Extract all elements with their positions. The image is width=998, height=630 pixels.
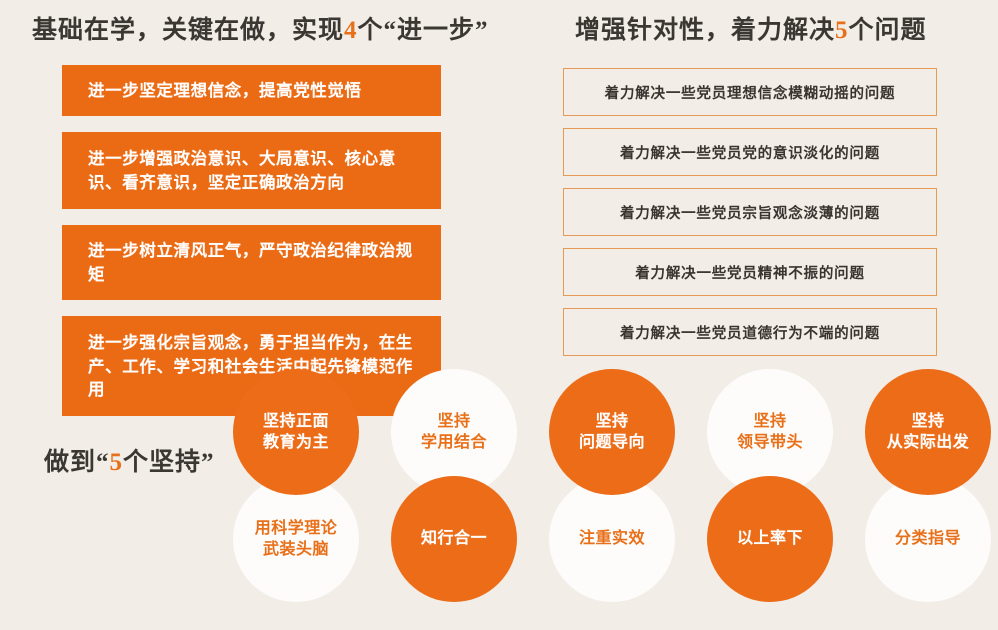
- circle-top: 坚持正面教育为主: [233, 369, 359, 495]
- bottom-label-suffix: 个坚持”: [123, 449, 215, 476]
- circle-label: 注重实效: [579, 528, 645, 549]
- outlined-box-item: 着力解决一些党员理想信念模糊动摇的问题: [563, 68, 937, 116]
- circle-column: 坚持从实际出发分类指导: [865, 369, 991, 602]
- outlined-box-label: 着力解决一些党员精神不振的问题: [635, 262, 865, 283]
- left-bar-list: 进一步坚定理想信念，提高党性觉悟 进一步增强政治意识、大局意识、核心意识、看齐意…: [62, 65, 441, 416]
- circle-label: 坚持正面教育为主: [263, 411, 329, 453]
- circle-label: 用科学理论武装头脑: [255, 518, 338, 560]
- left-title-suffix: 个“进一步”: [358, 17, 489, 44]
- right-title-suffix: 个问题: [849, 17, 927, 44]
- outlined-box-label: 着力解决一些党员理想信念模糊动摇的问题: [605, 82, 896, 103]
- circle-grid: 坚持正面教育为主用科学理论武装头脑坚持学用结合知行合一坚持问题导向注重实效坚持领…: [233, 369, 993, 602]
- bottom-label-number: 5: [110, 449, 124, 476]
- circle-bottom: 知行合一: [391, 476, 517, 602]
- outlined-box-item: 着力解决一些党员宗旨观念淡薄的问题: [563, 188, 937, 236]
- outlined-box-item: 着力解决一些党员党的意识淡化的问题: [563, 128, 937, 176]
- circle-column: 坚持正面教育为主用科学理论武装头脑: [233, 369, 359, 602]
- bottom-section-label: 做到“5个坚持”: [44, 450, 215, 475]
- circle-label: 坚持学用结合: [421, 411, 487, 453]
- circle-bottom: 以上率下: [707, 476, 833, 602]
- left-section-title: 基础在学，关键在做，实现4个“进一步”: [32, 18, 489, 43]
- circle-label: 坚持领导带头: [737, 411, 803, 453]
- left-title-prefix: 基础在学，关键在做，实现: [32, 17, 344, 44]
- circle-column: 坚持领导带头以上率下: [707, 369, 833, 602]
- outlined-box-label: 着力解决一些党员道德行为不端的问题: [620, 322, 880, 343]
- right-box-list: 着力解决一些党员理想信念模糊动摇的问题 着力解决一些党员党的意识淡化的问题 着力…: [563, 68, 937, 356]
- right-title-prefix: 增强针对性，着力解决: [575, 17, 835, 44]
- left-title-number: 4: [344, 17, 358, 44]
- circle-label: 分类指导: [895, 528, 961, 549]
- circle-top: 坚持问题导向: [549, 369, 675, 495]
- infographic-canvas: 基础在学，关键在做，实现4个“进一步” 增强针对性，着力解决5个问题 进一步坚定…: [0, 0, 998, 630]
- bottom-label-prefix: 做到“: [44, 449, 110, 476]
- circle-label: 坚持问题导向: [579, 411, 645, 453]
- orange-bar-item: 进一步树立清风正气，严守政治纪律政治规矩: [62, 225, 441, 300]
- circle-label: 坚持从实际出发: [887, 411, 970, 453]
- right-section-title: 增强针对性，着力解决5个问题: [575, 18, 927, 43]
- outlined-box-item: 着力解决一些党员精神不振的问题: [563, 248, 937, 296]
- circle-column: 坚持问题导向注重实效: [549, 369, 675, 602]
- orange-bar-item: 进一步增强政治意识、大局意识、核心意识、看齐意识，坚定正确政治方向: [62, 132, 441, 209]
- orange-bar-item: 进一步坚定理想信念，提高党性觉悟: [62, 65, 441, 116]
- outlined-box-item: 着力解决一些党员道德行为不端的问题: [563, 308, 937, 356]
- circle-label: 知行合一: [421, 528, 487, 549]
- outlined-box-label: 着力解决一些党员党的意识淡化的问题: [620, 142, 880, 163]
- circle-label: 以上率下: [737, 528, 803, 549]
- circle-top: 坚持从实际出发: [865, 369, 991, 495]
- circle-column: 坚持学用结合知行合一: [391, 369, 517, 602]
- outlined-box-label: 着力解决一些党员宗旨观念淡薄的问题: [620, 202, 880, 223]
- right-title-number: 5: [835, 17, 849, 44]
